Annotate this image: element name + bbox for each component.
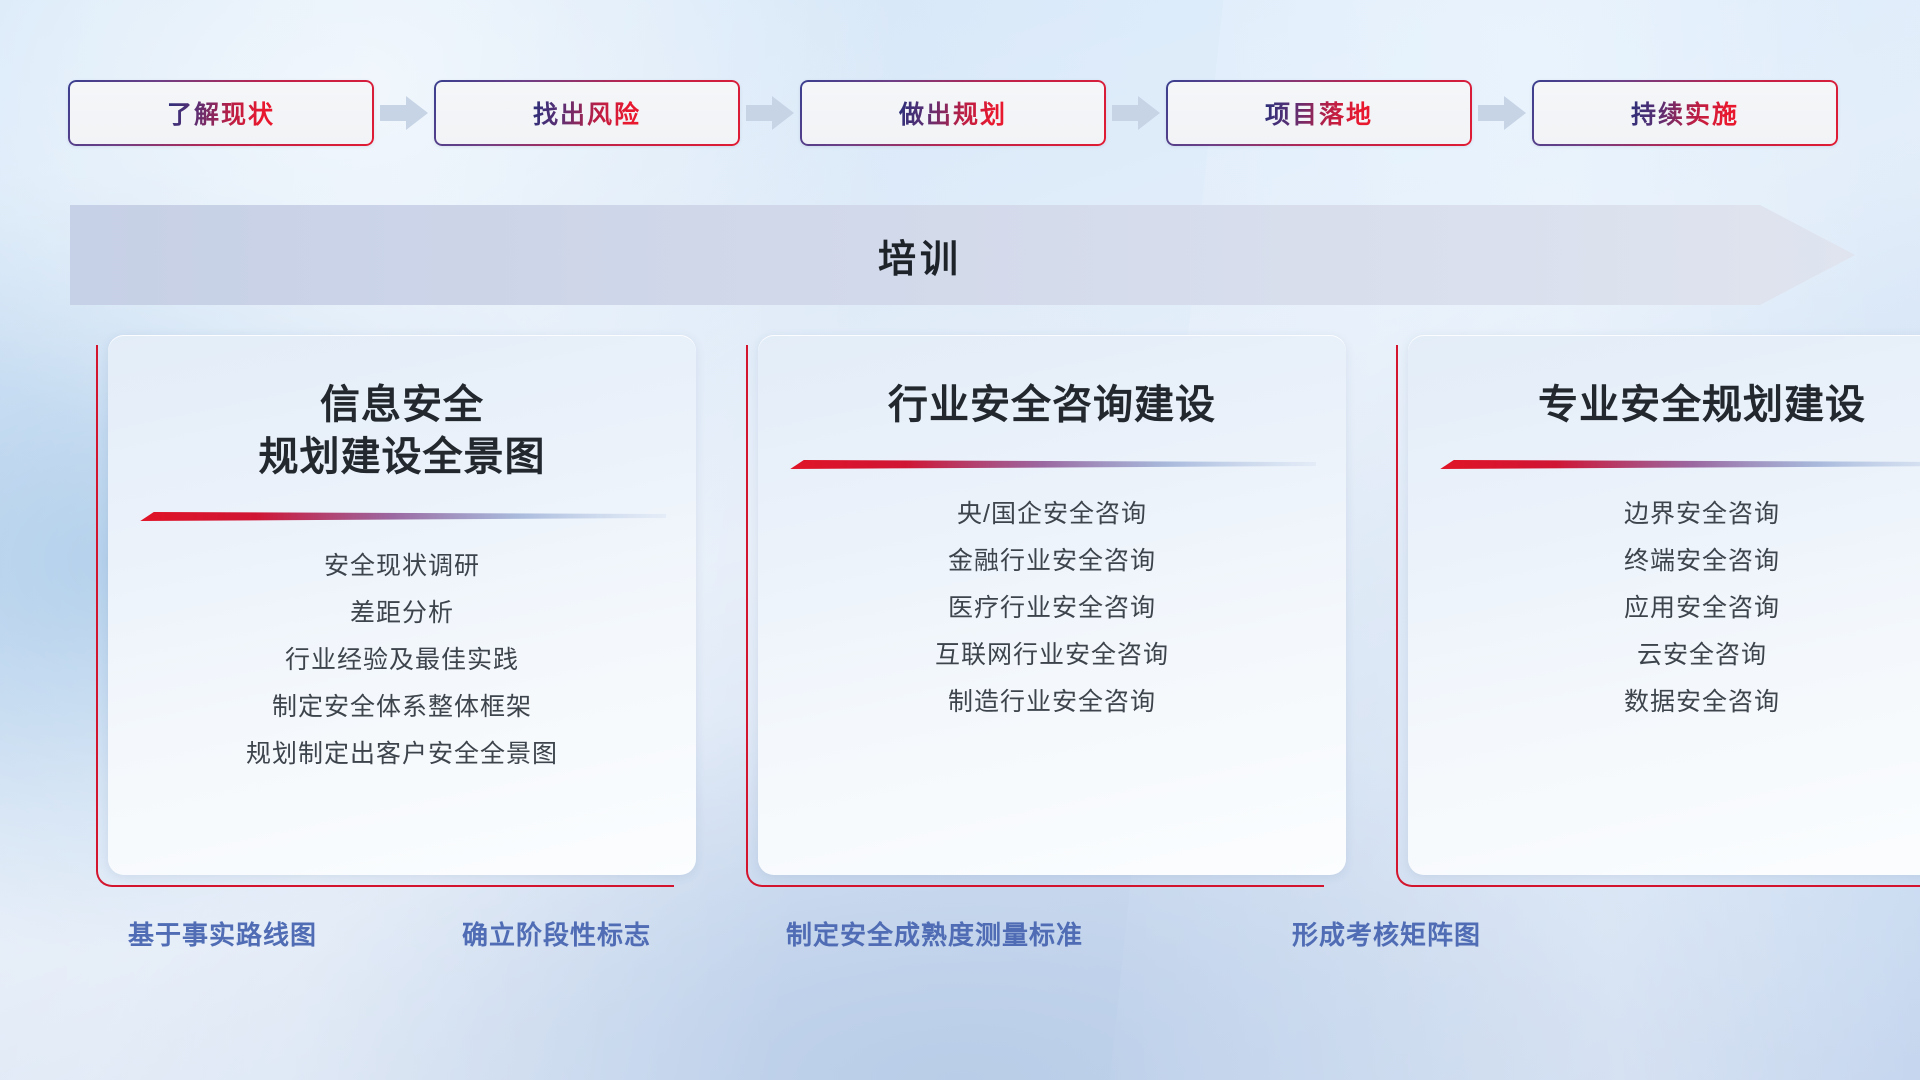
- footer-label-2: 确立阶段性标志: [462, 915, 651, 952]
- card-title: 专业安全规划建设: [1538, 379, 1866, 431]
- step-label-3: 做出规划: [899, 95, 1007, 131]
- list-item: 规划制定出客户安全全景图: [138, 731, 666, 778]
- step-arrow-icon-2: [740, 93, 800, 133]
- step-box-3[interactable]: 做出规划: [800, 80, 1106, 146]
- list-item: 应用安全咨询: [1438, 585, 1920, 632]
- list-item: 安全现状调研: [138, 543, 666, 590]
- process-step-row: 了解现状 找出风险 做出规划 项目落地: [68, 78, 1858, 148]
- list-item: 差距分析: [138, 590, 666, 637]
- step-arrow-icon-1: [374, 93, 434, 133]
- list-item: 云安全咨询: [1438, 632, 1920, 679]
- list-item: 行业经验及最佳实践: [138, 637, 666, 684]
- footer-label-1: 基于事实路线图: [128, 915, 317, 952]
- training-banner: 培训: [70, 205, 1855, 305]
- card-title: 信息安全 规划建设全景图: [259, 379, 546, 483]
- card-industry-security-consulting[interactable]: 行业安全咨询建设 央/国企安全咨询: [758, 335, 1346, 875]
- card-professional-security-planning[interactable]: 专业安全规划建设 边界安全咨询: [1408, 335, 1920, 875]
- list-item: 医疗行业安全咨询: [788, 585, 1316, 632]
- list-item: 边界安全咨询: [1438, 491, 1920, 538]
- list-item: 终端安全咨询: [1438, 538, 1920, 585]
- slide-canvas: 了解现状 找出风险 做出规划 项目落地: [0, 0, 1920, 1080]
- step-box-5[interactable]: 持续实施: [1532, 80, 1838, 146]
- list-item: 数据安全咨询: [1438, 679, 1920, 726]
- list-item: 制定安全体系整体框架: [138, 684, 666, 731]
- card-row: 信息安全 规划建设全景图 安全现状调研: [108, 335, 1848, 875]
- card-info-security-blueprint[interactable]: 信息安全 规划建设全景图 安全现状调研: [108, 335, 696, 875]
- step-label-4: 项目落地: [1265, 95, 1373, 131]
- step-arrow-icon-4: [1472, 93, 1532, 133]
- gradient-wedge-rule-icon: [1438, 457, 1920, 473]
- footer-label-row: 基于事实路线图 确立阶段性标志 制定安全成熟度测量标准 形成考核矩阵图: [0, 915, 1920, 961]
- gradient-wedge-rule-icon: [138, 509, 666, 525]
- list-item: 互联网行业安全咨询: [788, 632, 1316, 679]
- step-box-2[interactable]: 找出风险: [434, 80, 740, 146]
- step-box-1[interactable]: 了解现状: [68, 80, 374, 146]
- list-item: 央/国企安全咨询: [788, 491, 1316, 538]
- step-arrow-icon-3: [1106, 93, 1166, 133]
- banner-title: 培训: [70, 205, 1770, 305]
- step-label-5: 持续实施: [1631, 95, 1739, 131]
- step-label-1: 了解现状: [167, 95, 275, 131]
- footer-label-3: 制定安全成熟度测量标准: [786, 915, 1083, 952]
- footer-label-4: 形成考核矩阵图: [1292, 915, 1481, 952]
- card-item-list: 安全现状调研 差距分析 行业经验及最佳实践 制定安全体系整体框架 规划制定出客户…: [138, 543, 666, 778]
- card-item-list: 边界安全咨询 终端安全咨询 应用安全咨询 云安全咨询 数据安全咨询: [1438, 491, 1920, 726]
- list-item: 制造行业安全咨询: [788, 679, 1316, 726]
- card-item-list: 央/国企安全咨询 金融行业安全咨询 医疗行业安全咨询 互联网行业安全咨询 制造行…: [788, 491, 1316, 726]
- gradient-wedge-rule-icon: [788, 457, 1316, 473]
- list-item: 金融行业安全咨询: [788, 538, 1316, 585]
- card-title: 行业安全咨询建设: [888, 379, 1216, 431]
- step-box-4[interactable]: 项目落地: [1166, 80, 1472, 146]
- step-label-2: 找出风险: [533, 95, 641, 131]
